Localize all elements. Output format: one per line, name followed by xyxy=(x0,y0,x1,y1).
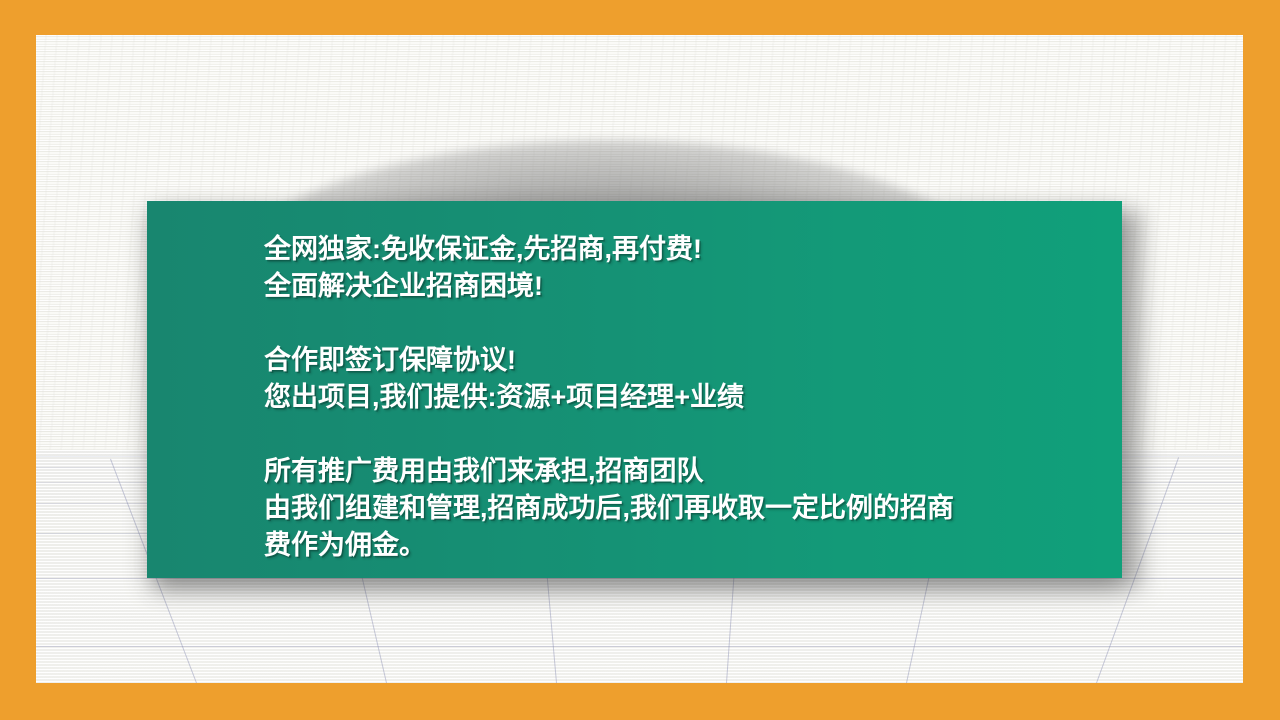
slide-root: 全网独家:免收保证金,先招商,再付费! 全面解决企业招商困境! 合作即签订保障协… xyxy=(0,0,1280,720)
promo-line-7: 所有推广费用由我们来承担,招商团队 xyxy=(264,453,1112,490)
promo-line-5: 您出项目,我们提供:资源+项目经理+业绩 xyxy=(264,379,1112,416)
promo-line-1: 全网独家:免收保证金,先招商,再付费! xyxy=(264,231,1112,268)
promo-line-9: 费作为佣金。 xyxy=(264,527,1112,564)
promo-line-spacer-1 xyxy=(264,305,1112,342)
floor-line-horizontal xyxy=(36,646,1243,647)
promo-line-8: 由我们组建和管理,招商成功后,我们再收取一定比例的招商 xyxy=(264,490,1112,527)
promo-message-card: 全网独家:免收保证金,先招商,再付费! 全面解决企业招商困境! 合作即签订保障协… xyxy=(147,201,1122,578)
promo-line-spacer-2 xyxy=(264,416,1112,453)
room-stage: 全网独家:免收保证金,先招商,再付费! 全面解决企业招商困境! 合作即签订保障协… xyxy=(36,35,1243,683)
promo-text-block: 全网独家:免收保证金,先招商,再付费! 全面解决企业招商困境! 合作即签订保障协… xyxy=(264,231,1112,564)
promo-line-2: 全面解决企业招商困境! xyxy=(264,268,1112,305)
promo-line-4: 合作即签订保障协议! xyxy=(264,342,1112,379)
